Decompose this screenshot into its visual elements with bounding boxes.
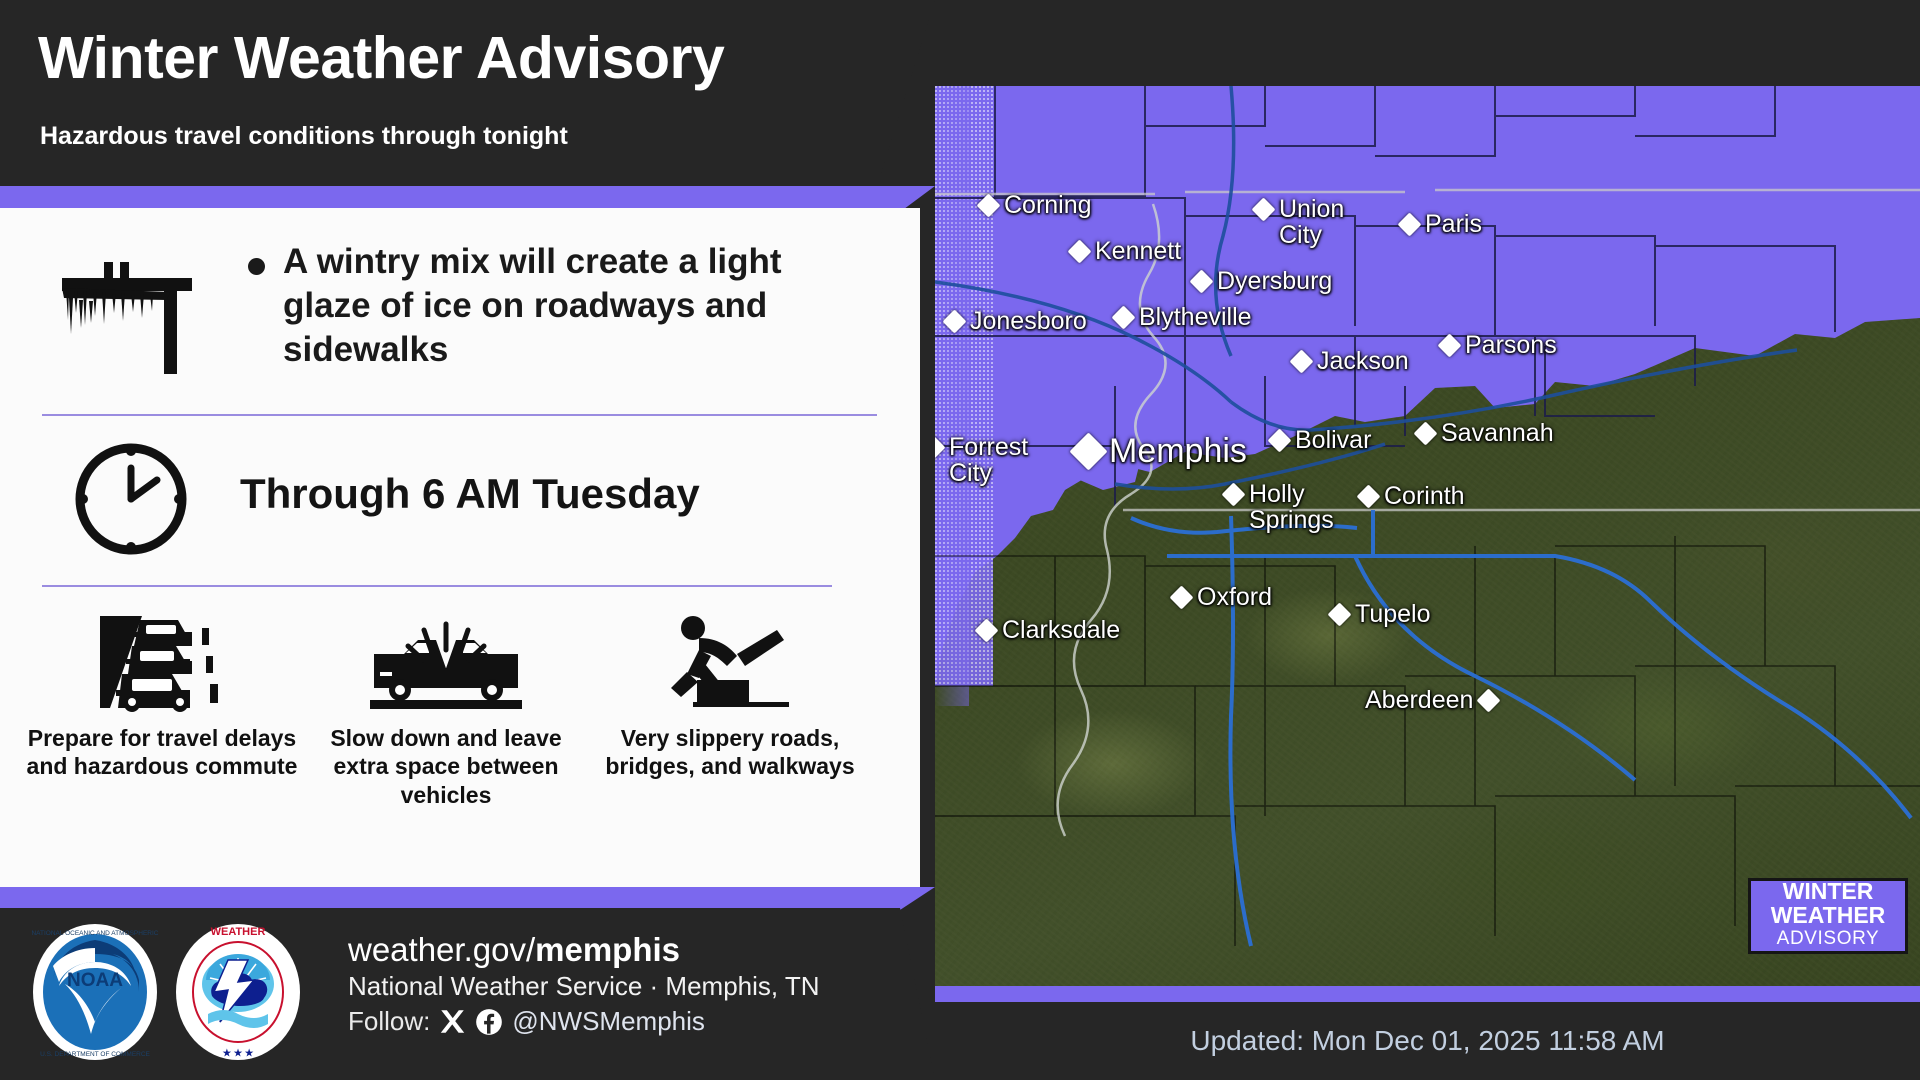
safety-tips-row: Prepare for travel delays and hazardous … <box>0 612 900 862</box>
footer-url[interactable]: weather.gov/memphis <box>348 930 820 970</box>
footer-url-prefix: weather.gov/ <box>348 931 535 968</box>
divider-1 <box>42 414 877 416</box>
bullet-dot-icon <box>248 258 265 275</box>
advisory-map[interactable]: CorningUnion CityParisKennettDyersburgJo… <box>935 86 1920 1002</box>
tip-caption: Very slippery roads, bridges, and walkwa… <box>590 724 870 781</box>
tip-slow-down: Slow down and leave extra space between … <box>306 612 586 862</box>
x-twitter-icon[interactable] <box>439 1008 466 1035</box>
legend-line-1: WINTER <box>1783 880 1874 903</box>
tip-caption: Slow down and leave extra space between … <box>306 724 586 809</box>
updated-timestamp: Updated: Mon Dec 01, 2025 11:58 AM <box>1190 1025 1664 1057</box>
tip-caption: Prepare for travel delays and hazardous … <box>22 724 302 781</box>
svg-text:NATIONAL OCEANIC AND ATMOSPHER: NATIONAL OCEANIC AND ATMOSPHERIC <box>31 930 158 937</box>
footer-text-block: weather.gov/memphis National Weather Ser… <box>348 930 820 1039</box>
svg-text:★ ★ ★: ★ ★ ★ <box>223 1048 254 1059</box>
social-handle[interactable]: @NWSMemphis <box>512 1004 705 1039</box>
advisory-timing-row: Through 6 AM Tuesday <box>0 430 900 570</box>
map-boundaries-and-rivers <box>935 86 1920 1002</box>
icicle-power-line-icon <box>52 248 202 378</box>
timing-text: Through 6 AM Tuesday <box>240 470 700 518</box>
svg-text:WEATHER: WEATHER <box>211 926 266 938</box>
noaa-logo: NOAA NATIONAL OCEANIC AND ATMOSPHERIC U.… <box>25 922 165 1062</box>
national-weather-service-logo: WEATHER ★ ★ ★ <box>168 922 308 1062</box>
footer-accent-bar <box>0 887 935 910</box>
facebook-icon[interactable] <box>475 1008 503 1036</box>
follow-label: Follow: <box>348 1004 430 1039</box>
map-bottom-accent <box>935 986 1920 1002</box>
footer-office-name: National Weather Service · Memphis, TN <box>348 970 820 1004</box>
page-subtitle: Hazardous travel conditions through toni… <box>40 122 568 151</box>
tip-travel-delays: Prepare for travel delays and hazardous … <box>22 612 302 862</box>
left-panel: Winter Weather Advisory Hazardous travel… <box>0 0 935 1080</box>
footer-follow-row: Follow: @NWSMemphis <box>348 1004 820 1039</box>
header-banner: Winter Weather Advisory Hazardous travel… <box>0 0 935 193</box>
legend-line-2: WEATHER <box>1771 904 1886 927</box>
bullet-item: A wintry mix will create a light glaze o… <box>248 240 848 371</box>
footer-url-office: memphis <box>535 931 680 968</box>
traffic-congestion-icon <box>96 612 228 712</box>
timestamp-bar: Updated: Mon Dec 01, 2025 11:58 AM <box>935 1002 1920 1080</box>
legend-badge: WINTER WEATHER ADVISORY <box>1748 878 1908 954</box>
page-title: Winter Weather Advisory <box>38 24 724 92</box>
person-slipping-icon <box>665 612 795 712</box>
divider-2 <box>42 585 832 587</box>
winter-weather-advisory-graphic: Winter Weather Advisory Hazardous travel… <box>0 0 1920 1080</box>
advisory-bullet-row: A wintry mix will create a light glaze o… <box>0 232 900 412</box>
clock-icon <box>72 440 190 558</box>
footer: NOAA NATIONAL OCEANIC AND ATMOSPHERIC U.… <box>0 908 935 1080</box>
bullet-text: A wintry mix will create a light glaze o… <box>283 240 843 371</box>
legend-line-3: ADVISORY <box>1777 927 1880 952</box>
svg-text:U.S. DEPARTMENT OF COMMERCE: U.S. DEPARTMENT OF COMMERCE <box>40 1051 150 1058</box>
car-crash-icon <box>366 620 526 712</box>
svg-text:NOAA: NOAA <box>67 970 123 991</box>
tip-slippery: Very slippery roads, bridges, and walkwa… <box>590 612 870 862</box>
